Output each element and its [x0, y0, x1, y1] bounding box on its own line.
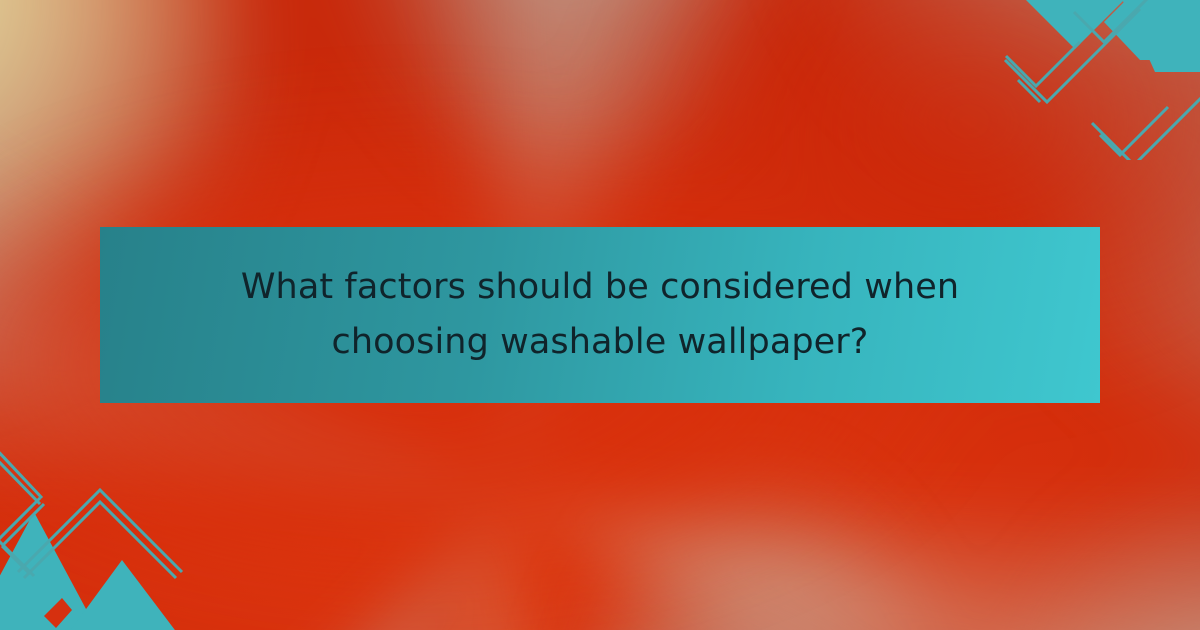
- title-banner: What factors should be considered when c…: [100, 227, 1100, 403]
- banner-title: What factors should be considered when c…: [220, 260, 980, 370]
- hero-card: What factors should be considered when c…: [0, 0, 1200, 630]
- chevron-cluster-bottom-left-icon: [0, 420, 220, 630]
- chevron-cluster-top-right-icon: [1000, 0, 1200, 160]
